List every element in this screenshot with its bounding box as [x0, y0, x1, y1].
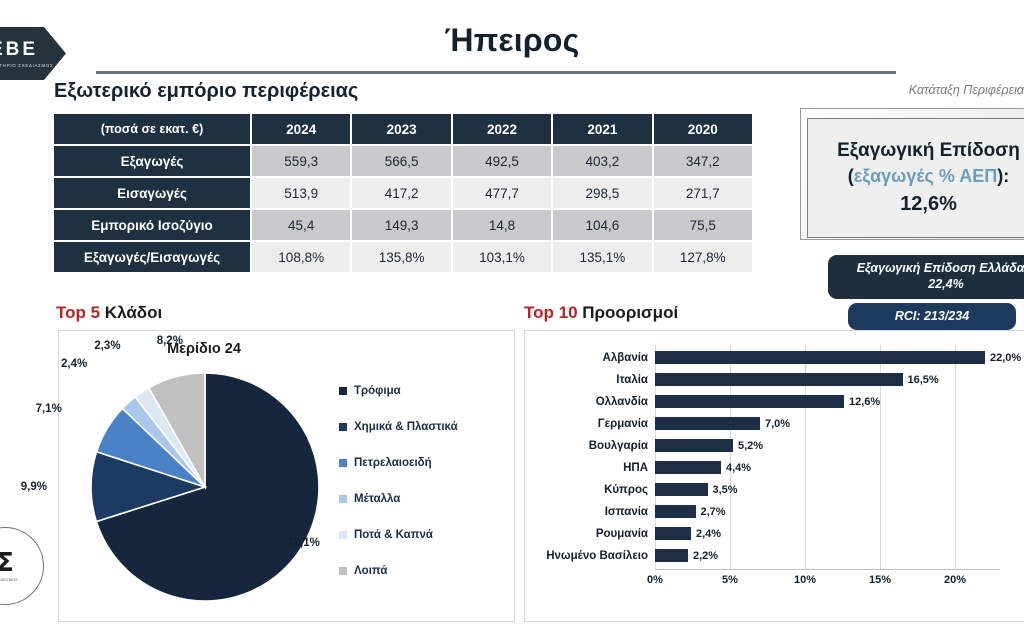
- table-cell: 45,4: [252, 210, 350, 240]
- sectors-pie-panel: Μερίδιο 24 70,1%9,9%7,1%2,4%2,3%8,2% Τρό…: [58, 330, 515, 622]
- destinations-heading-rest: Προορισμοί: [578, 303, 679, 322]
- bar-fill[interactable]: [655, 549, 688, 562]
- bar-row: Κύπρος3,5%: [655, 479, 1000, 500]
- table-row-label: Εξαγωγές/Εισαγωγές: [54, 242, 250, 272]
- kpi-subtitle: (εξαγωγές % ΑΕΠ):: [848, 166, 1009, 187]
- bar-value-label: 5,2%: [738, 435, 763, 456]
- bar-row: Βουλγαρία5,2%: [655, 435, 1000, 456]
- sectors-chart-heading: Top 5 Κλάδοι: [56, 303, 162, 323]
- seal-glyph-icon: Σ: [0, 550, 14, 576]
- table-row-label: Εισαγωγές: [54, 178, 250, 208]
- bar-axis-tick-label: 10%: [794, 574, 816, 586]
- bar-fill[interactable]: [655, 395, 844, 408]
- bar-fill[interactable]: [655, 373, 903, 386]
- table-cell: 298,5: [553, 178, 651, 208]
- bar-value-label: 3,5%: [713, 479, 738, 500]
- table-col-header-unit: (ποσά σε εκατ. €): [54, 114, 250, 144]
- table-cell: 103,1%: [453, 242, 551, 272]
- bar-category-label: Ρουμανία: [596, 523, 648, 544]
- pie-legend-label: Τρόφιμα: [354, 385, 401, 397]
- table-header-row: (ποσά σε εκατ. €) 2024 2023 2022 2021 20…: [54, 114, 752, 144]
- pie-legend-item[interactable]: Μέταλλα: [339, 481, 509, 517]
- pie-legend-label: Μέταλλα: [354, 493, 400, 505]
- bar-fill[interactable]: [655, 527, 691, 540]
- destinations-bar-panel: Αλβανία22,0%Ιταλία16,5%Ολλανδία12,6%Γερμ…: [524, 330, 1024, 622]
- table-cell: 14,8: [453, 210, 551, 240]
- bar-category-label: Αλβανία: [603, 347, 648, 368]
- section-heading: Εξωτερικό εμπόριο περιφέρειας: [54, 80, 358, 103]
- bar-fill[interactable]: [655, 439, 733, 452]
- table-cell: 104,6: [553, 210, 651, 240]
- greece-benchmark-value: 22,4%: [928, 277, 963, 291]
- bar-row: Αλβανία22,0%: [655, 347, 1000, 368]
- table-col-header-2023: 2023: [352, 114, 450, 144]
- bar-value-label: 22,0%: [990, 347, 1021, 368]
- card-body: Εξαγωγική Επίδοση (εξαγωγές % ΑΕΠ): 12,6…: [807, 118, 1024, 238]
- table-cell: 347,2: [654, 146, 752, 176]
- pie-legend-label: Χημικά & Πλαστικά: [354, 421, 458, 433]
- table-cell: 75,5: [654, 210, 752, 240]
- bar-value-label: 2,7%: [701, 501, 726, 522]
- ranking-caption: Κατάταξη Περιφέρεια: [909, 83, 1024, 97]
- table-cell: 135,8%: [352, 242, 450, 272]
- table-cell: 403,2: [553, 146, 651, 176]
- table-cell: 127,8%: [654, 242, 752, 272]
- bar-axis-tick-label: 5%: [722, 574, 738, 586]
- bar-axis-tick-label: 20%: [944, 574, 966, 586]
- bar-row: Ηνωμένο Βασίλειο2,2%: [655, 545, 1000, 566]
- table-row: Εξαγωγές 559,3 566,5 492,5 403,2 347,2: [54, 146, 752, 176]
- bar-value-label: 16,5%: [908, 369, 939, 390]
- kpi-subtitle-accent: εξαγωγές % ΑΕΠ: [854, 166, 997, 186]
- secondary-seal-logo: Σ ΣΥΝΔΕΣΜΟΣ: [0, 527, 44, 605]
- table-row-label: Εξαγωγές: [54, 146, 250, 176]
- pie-legend-item[interactable]: Χημικά & Πλαστικά: [339, 409, 509, 445]
- table-cell: 108,8%: [252, 242, 350, 272]
- seal-subtext: ΣΥΝΔΕΣΜΟΣ: [0, 578, 18, 582]
- pie-slice-label: 7,1%: [36, 403, 62, 415]
- bar-chart: Αλβανία22,0%Ιταλία16,5%Ολλανδία12,6%Γερμ…: [655, 345, 1000, 583]
- pie-legend-label: Πετρελαιοειδή: [354, 457, 432, 469]
- table-col-header-2022: 2022: [453, 114, 551, 144]
- bar-category-label: Γερμανία: [598, 413, 648, 434]
- table-col-header-2020: 2020: [654, 114, 752, 144]
- table-cell: 566,5: [352, 146, 450, 176]
- destinations-heading-top: Top 10: [524, 303, 578, 322]
- table-row: Εμπορικό Ισοζύγιο 45,4 149,3 14,8 104,6 …: [54, 210, 752, 240]
- bar-category-label: Ολλανδία: [596, 391, 648, 412]
- bar-row: Γερμανία7,0%: [655, 413, 1000, 434]
- bar-fill[interactable]: [655, 417, 760, 430]
- legend-swatch-icon: [339, 423, 347, 431]
- bar-value-label: 7,0%: [765, 413, 790, 434]
- greece-benchmark-badge: Εξαγωγική Επίδοση Ελλάδας: 22,4%: [828, 255, 1024, 299]
- legend-swatch-icon: [339, 387, 347, 395]
- pie-legend-item[interactable]: Λοιπά: [339, 553, 509, 589]
- bar-axis-tick-label: 15%: [869, 574, 891, 586]
- slide-root: EBE ΕΠΙΜΕΛΗΤΗΡΙΟ ΣΧΕΔΙΑΣΜΟΣ Σ ΣΥΝΔΕΣΜΟΣ …: [0, 0, 1024, 640]
- bar-category-label: Κύπρος: [604, 479, 648, 500]
- rci-badge: RCI: 213/234: [848, 303, 1016, 330]
- trade-table: (ποσά σε εκατ. €) 2024 2023 2022 2021 20…: [52, 112, 754, 274]
- legend-swatch-icon: [339, 495, 347, 503]
- table-col-header-2021: 2021: [553, 114, 651, 144]
- pie-slice-label: 70,1%: [287, 537, 320, 549]
- destinations-chart-heading: Top 10 Προορισμοί: [524, 303, 678, 323]
- logo-subtext: ΕΠΙΜΕΛΗΤΗΡΙΟ ΣΧΕΔΙΑΣΜΟΣ: [0, 63, 53, 68]
- pie-chart-svg: [87, 369, 323, 605]
- bar-value-label: 2,4%: [696, 523, 721, 544]
- bar-fill[interactable]: [655, 461, 721, 474]
- table-row-label: Εμπορικό Ισοζύγιο: [54, 210, 250, 240]
- export-performance-card: Εξαγωγική Επίδοση (εξαγωγές % ΑΕΠ): 12,6…: [800, 108, 1024, 238]
- table-cell: 513,9: [252, 178, 350, 208]
- pie-chart: [87, 369, 323, 605]
- kpi-title: Εξαγωγική Επίδοση: [837, 140, 1020, 162]
- pie-legend-item[interactable]: Τρόφιμα: [339, 373, 509, 409]
- bar-value-label: 4,4%: [726, 457, 751, 478]
- pie-legend-item[interactable]: Ποτά & Καπνά: [339, 517, 509, 553]
- pie-slice-label: 9,9%: [21, 481, 47, 493]
- bar-category-label: Ισπανία: [605, 501, 648, 522]
- greece-benchmark-label: Εξαγωγική Επίδοση Ελλάδας:: [857, 261, 1024, 275]
- bar-row: Ιταλία16,5%: [655, 369, 1000, 390]
- pie-legend-label: Ποτά & Καπνά: [354, 529, 433, 541]
- pie-slice-label: 2,4%: [61, 358, 87, 370]
- title-divider: [96, 71, 896, 74]
- sectors-heading-rest: Κλάδοι: [100, 303, 162, 322]
- bar-axis-tick-label: 0%: [647, 574, 663, 586]
- table-cell: 135,1%: [553, 242, 651, 272]
- table-cell: 559,3: [252, 146, 350, 176]
- bar-category-label: Βουλγαρία: [589, 435, 648, 456]
- bar-category-label: ΗΠΑ: [623, 457, 648, 478]
- bar-x-axis: [655, 569, 1000, 570]
- bar-row: Ισπανία2,7%: [655, 501, 1000, 522]
- bar-value-label: 12,6%: [849, 391, 880, 412]
- bar-row: Ρουμανία2,4%: [655, 523, 1000, 544]
- legend-swatch-icon: [339, 531, 347, 539]
- table-cell: 417,2: [352, 178, 450, 208]
- table-cell: 477,7: [453, 178, 551, 208]
- kpi-subtitle-close: ):: [997, 166, 1009, 186]
- legend-swatch-icon: [339, 459, 347, 467]
- bar-category-label: Ηνωμένο Βασίλειο: [546, 545, 648, 566]
- pie-slice-label: 2,3%: [94, 340, 120, 352]
- table-cell: 149,3: [352, 210, 450, 240]
- bar-category-label: Ιταλία: [616, 369, 648, 390]
- kpi-value: 12,6%: [900, 193, 957, 216]
- pie-legend-label: Λοιπά: [354, 565, 387, 577]
- bar-fill[interactable]: [655, 483, 708, 496]
- pie-slice-label: 8,2%: [157, 335, 183, 347]
- page-title: Ήπειρος: [0, 22, 1024, 59]
- table-col-header-2024: 2024: [252, 114, 350, 144]
- bar-row: Ολλανδία12,6%: [655, 391, 1000, 412]
- pie-legend-item[interactable]: Πετρελαιοειδή: [339, 445, 509, 481]
- table-cell: 492,5: [453, 146, 551, 176]
- bar-fill[interactable]: [655, 351, 985, 364]
- table-row: Εισαγωγές 513,9 417,2 477,7 298,5 271,7: [54, 178, 752, 208]
- bar-row: ΗΠΑ4,4%: [655, 457, 1000, 478]
- pie-legend: ΤρόφιμαΧημικά & ΠλαστικάΠετρελαιοειδήΜέτ…: [339, 373, 509, 589]
- table-cell: 271,7: [654, 178, 752, 208]
- legend-swatch-icon: [339, 567, 347, 575]
- bar-value-label: 2,2%: [693, 545, 718, 566]
- sectors-heading-top: Top 5: [56, 303, 100, 322]
- table-row: Εξαγωγές/Εισαγωγές 108,8% 135,8% 103,1% …: [54, 242, 752, 272]
- bar-fill[interactable]: [655, 505, 696, 518]
